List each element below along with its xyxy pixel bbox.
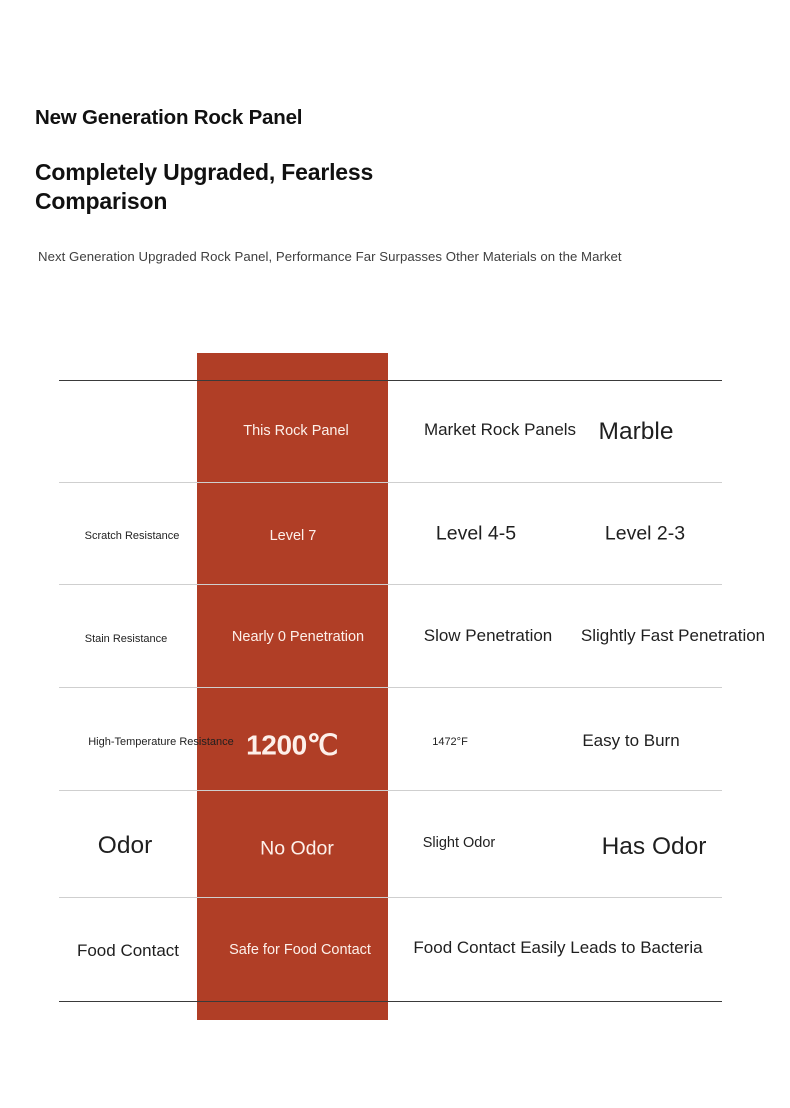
row-label-odor: Odor	[98, 832, 152, 860]
cell-odor-this-panel: No Odor	[260, 838, 334, 861]
column-header-this-panel: This Rock Panel	[243, 423, 349, 439]
row-divider-5	[59, 897, 722, 898]
cell-stain-this-panel: Nearly 0 Penetration	[232, 629, 364, 645]
cell-temperature-market-panels: 1472°F	[432, 736, 468, 748]
row-label-high-temperature-resistance: High-Temperature Resistance	[88, 736, 234, 748]
cell-temperature-marble: Easy to Burn	[582, 731, 679, 751]
table-bottom-border	[59, 1001, 722, 1002]
cell-scratch-this-panel: Level 7	[270, 528, 317, 544]
row-divider-4	[59, 790, 722, 791]
cell-odor-market-panels: Slight Odor	[423, 835, 496, 851]
cell-stain-market-panels: Slow Penetration	[424, 626, 553, 646]
cell-food-contact-this-panel: Safe for Food Contact	[229, 942, 371, 958]
row-label-food-contact: Food Contact	[77, 941, 179, 961]
table-top-border	[59, 380, 722, 381]
row-label-stain-resistance: Stain Resistance	[85, 633, 168, 645]
comparison-table: This Rock Panel Market Rock Panels Marbl…	[0, 0, 790, 1108]
column-header-market-panels: Market Rock Panels	[424, 420, 576, 440]
cell-stain-marble: Slightly Fast Penetration	[581, 626, 765, 646]
column-header-marble: Marble	[599, 418, 674, 446]
cell-scratch-marble: Level 2-3	[605, 523, 685, 546]
cell-scratch-market-panels: Level 4-5	[436, 523, 516, 546]
cell-temperature-this-panel: 1200℃	[246, 729, 338, 762]
cell-food-contact-others: Food Contact Easily Leads to Bacteria	[413, 938, 702, 958]
row-divider-2	[59, 584, 722, 585]
cell-odor-marble: Has Odor	[602, 833, 707, 861]
row-divider-3	[59, 687, 722, 688]
row-divider-1	[59, 482, 722, 483]
row-label-scratch-resistance: Scratch Resistance	[85, 530, 180, 542]
